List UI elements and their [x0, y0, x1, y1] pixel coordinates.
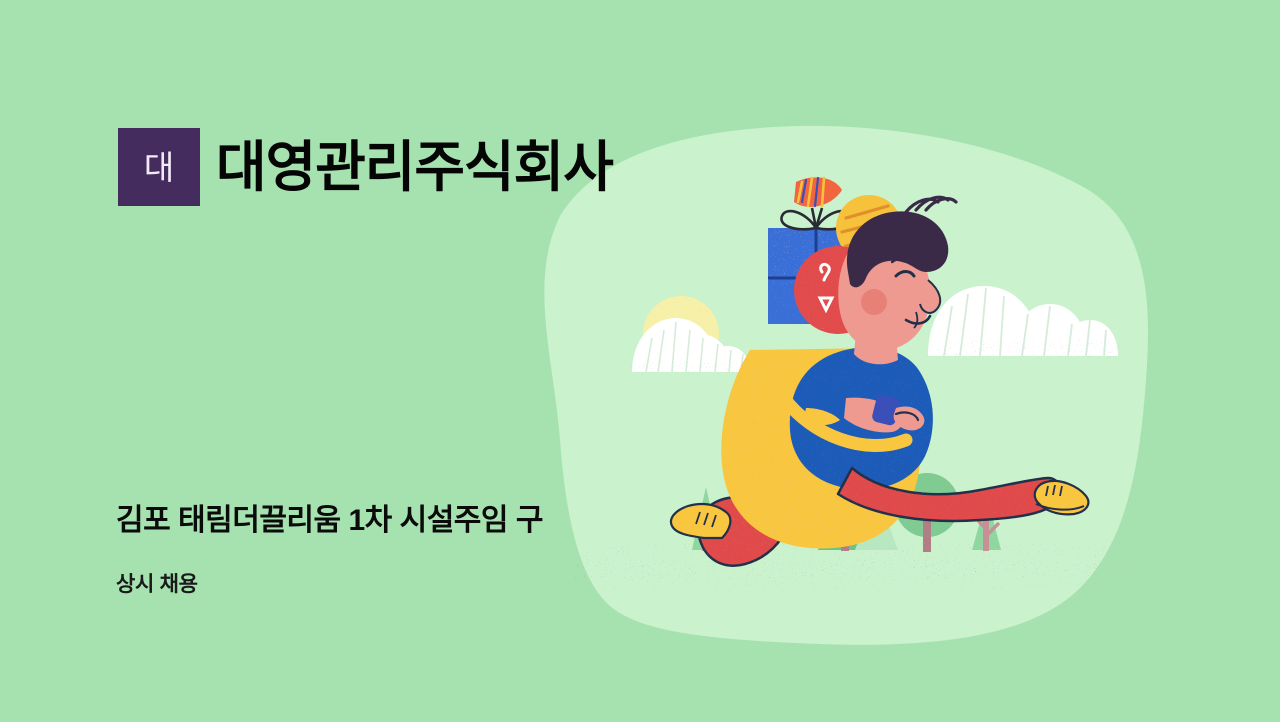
- ground-band: [562, 542, 1132, 592]
- illustration-artwork: [0, 0, 1280, 722]
- company-logo-initial: 대: [144, 151, 174, 184]
- company-name: 대영관리주식회사: [216, 140, 613, 195]
- job-poster: 대 대영관리주식회사 김포 태림더끌리움 1차 시설주임 구 상시 채용: [0, 0, 1280, 722]
- company-logo-badge: 대: [118, 128, 200, 206]
- job-hiring-status: 상시 채용: [116, 572, 198, 597]
- company-header: 대 대영관리주식회사: [118, 128, 613, 206]
- cheek-blush: [861, 289, 887, 315]
- job-title: 김포 태림더끌리움 1차 시설주임 구: [116, 503, 543, 539]
